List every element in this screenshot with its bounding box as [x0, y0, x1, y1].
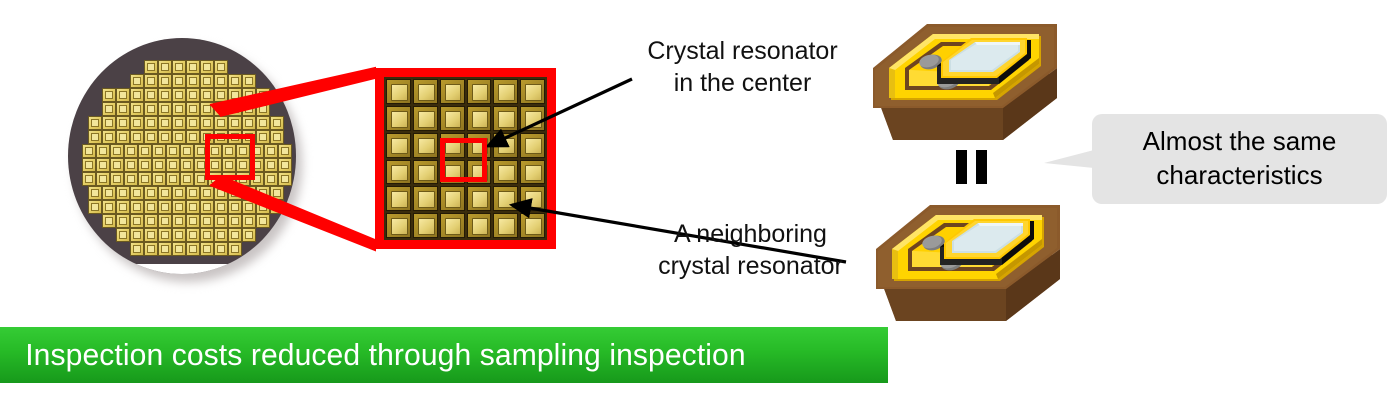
magnified-die: [440, 186, 465, 211]
wafer-die: [130, 88, 144, 102]
wafer-die: [102, 186, 116, 200]
wafer-die: [166, 144, 180, 158]
wafer-die: [242, 74, 256, 88]
wafer-die: [256, 214, 270, 228]
wafer-die: [172, 88, 186, 102]
wafer-die: [242, 228, 256, 242]
wafer-die: [144, 116, 158, 130]
wafer-die: [172, 186, 186, 200]
wafer-die: [152, 144, 166, 158]
wafer-die: [158, 130, 172, 144]
wafer-die: [172, 200, 186, 214]
wafer-sample-region-box: [205, 134, 255, 180]
wafer-die: [144, 228, 158, 242]
wafer-die-row: [130, 242, 242, 256]
wafer-die: [228, 228, 242, 242]
magnified-die: [386, 133, 411, 158]
wafer-die: [200, 74, 214, 88]
wafer-die: [242, 200, 256, 214]
result-banner-text: Inspection costs reduced through samplin…: [0, 337, 746, 373]
speech-bubble-text: Almost the same characteristics: [1133, 125, 1347, 193]
wafer-die: [124, 172, 138, 186]
wafer-die: [144, 214, 158, 228]
magnified-die: [493, 213, 518, 238]
wafer-die: [278, 158, 292, 172]
wafer-die: [158, 228, 172, 242]
wafer-die: [242, 102, 256, 116]
wafer-die-row: [102, 214, 270, 228]
wafer-die: [144, 102, 158, 116]
wafer-die: [186, 228, 200, 242]
magnified-region-panel: [375, 68, 556, 249]
label-neighboring-resonator: A neighboring crystal resonator: [643, 218, 858, 282]
wafer-die: [256, 88, 270, 102]
wafer-die: [158, 186, 172, 200]
wafer-die: [130, 228, 144, 242]
wafer-die: [144, 200, 158, 214]
wafer-die: [214, 200, 228, 214]
wafer-die: [186, 200, 200, 214]
wafer-die: [130, 242, 144, 256]
wafer-flat-edge: [102, 264, 252, 274]
wafer-die: [130, 130, 144, 144]
wafer-die-row: [88, 116, 284, 130]
wafer-die: [138, 144, 152, 158]
wafer-die: [228, 102, 242, 116]
wafer-die: [110, 172, 124, 186]
wafer-die-row: [130, 74, 256, 88]
magnified-die: [467, 79, 492, 104]
wafer-die: [152, 172, 166, 186]
equals-bar-left: [956, 150, 967, 184]
wafer-die: [130, 74, 144, 88]
wafer-die: [264, 144, 278, 158]
magnified-die: [467, 106, 492, 131]
wafer-die: [158, 88, 172, 102]
wafer-die: [242, 214, 256, 228]
wafer-die: [256, 186, 270, 200]
magnified-die: [493, 160, 518, 185]
wafer-die-row: [88, 200, 284, 214]
wafer-die: [172, 228, 186, 242]
magnified-die: [520, 106, 545, 131]
wafer-die-row: [82, 144, 292, 158]
magnified-die: [413, 160, 438, 185]
wafer-die: [116, 214, 130, 228]
wafer-die: [228, 200, 242, 214]
wafer-die: [158, 74, 172, 88]
magnified-die: [386, 213, 411, 238]
magnified-die: [413, 213, 438, 238]
wafer-die: [158, 200, 172, 214]
wafer-die: [214, 186, 228, 200]
magnified-die: [493, 106, 518, 131]
magnified-die: [493, 133, 518, 158]
wafer-die: [144, 242, 158, 256]
speech-bubble: Almost the same characteristics: [1092, 114, 1387, 204]
wafer-die: [214, 88, 228, 102]
wafer-die: [144, 88, 158, 102]
wafer-die: [102, 88, 116, 102]
label-center-resonator: Crystal resonator in the center: [630, 35, 855, 99]
wafer-die: [172, 214, 186, 228]
wafer-die: [270, 116, 284, 130]
magnified-die: [493, 79, 518, 104]
wafer-die: [144, 74, 158, 88]
wafer-die: [228, 186, 242, 200]
wafer-die: [116, 88, 130, 102]
wafer-die: [172, 60, 186, 74]
wafer-die: [256, 200, 270, 214]
wafer-die: [96, 158, 110, 172]
wafer-die: [130, 200, 144, 214]
wafer-die: [180, 158, 194, 172]
crystal-resonator-package-lower: [868, 193, 1068, 328]
wafer-die: [278, 144, 292, 158]
wafer-die: [228, 214, 242, 228]
wafer-die: [124, 158, 138, 172]
equals-sign: [956, 150, 992, 184]
wafer-die: [158, 116, 172, 130]
wafer-die: [88, 130, 102, 144]
wafer-die: [180, 172, 194, 186]
wafer-die: [130, 116, 144, 130]
wafer-die: [96, 172, 110, 186]
wafer-die: [214, 116, 228, 130]
wafer-die: [144, 186, 158, 200]
wafer-die: [186, 214, 200, 228]
wafer-die: [138, 158, 152, 172]
magnified-die: [520, 133, 545, 158]
magnified-die: [467, 213, 492, 238]
wafer-die: [96, 144, 110, 158]
wafer-die: [172, 116, 186, 130]
wafer-die: [214, 60, 228, 74]
wafer-die: [186, 74, 200, 88]
wafer-die: [116, 186, 130, 200]
magnified-die: [386, 106, 411, 131]
wafer-die: [186, 186, 200, 200]
wafer-die: [256, 116, 270, 130]
wafer-illustration: [68, 38, 308, 286]
wafer-die: [256, 130, 270, 144]
magnified-die: [493, 186, 518, 211]
wafer-die-row: [144, 60, 228, 74]
crystal-resonator-package-upper: [865, 12, 1065, 147]
wafer-die: [88, 186, 102, 200]
wafer-die: [186, 102, 200, 116]
wafer-die-row: [82, 158, 292, 172]
wafer-die: [200, 200, 214, 214]
wafer-die: [158, 60, 172, 74]
wafer-die: [138, 172, 152, 186]
wafer-die: [102, 116, 116, 130]
magnified-die: [413, 186, 438, 211]
wafer-die: [172, 102, 186, 116]
wafer-die: [102, 200, 116, 214]
magnified-die: [520, 79, 545, 104]
magnified-die: [467, 186, 492, 211]
wafer-die: [186, 242, 200, 256]
wafer-die: [200, 228, 214, 242]
wafer-die: [214, 242, 228, 256]
magnified-die: [520, 186, 545, 211]
magnified-die: [440, 79, 465, 104]
wafer-disc: [68, 38, 296, 274]
wafer-die: [200, 102, 214, 116]
wafer-die: [278, 172, 292, 186]
wafer-die: [228, 116, 242, 130]
wafer-die: [228, 88, 242, 102]
wafer-die: [264, 172, 278, 186]
wafer-die: [256, 102, 270, 116]
magnified-die: [386, 79, 411, 104]
wafer-die: [200, 116, 214, 130]
wafer-die: [172, 242, 186, 256]
wafer-die: [200, 186, 214, 200]
wafer-die: [158, 214, 172, 228]
wafer-die: [200, 242, 214, 256]
wafer-die: [110, 144, 124, 158]
wafer-die: [186, 116, 200, 130]
wafer-die: [214, 214, 228, 228]
center-resonator-highlight-box: [440, 138, 487, 182]
wafer-die: [102, 102, 116, 116]
wafer-die: [82, 172, 96, 186]
figure-canvas: Crystal resonator in the center A neighb…: [0, 0, 1399, 400]
wafer-die: [180, 144, 194, 158]
wafer-die: [116, 130, 130, 144]
wafer-die: [158, 102, 172, 116]
magnified-die: [520, 160, 545, 185]
wafer-die: [166, 158, 180, 172]
wafer-die: [270, 200, 284, 214]
wafer-die: [130, 186, 144, 200]
speech-bubble-tail: [1044, 146, 1094, 172]
wafer-die: [158, 242, 172, 256]
wafer-die: [102, 130, 116, 144]
wafer-die: [242, 186, 256, 200]
magnified-die: [440, 106, 465, 131]
wafer-die: [270, 130, 284, 144]
wafer-die: [116, 200, 130, 214]
magnified-die: [413, 133, 438, 158]
wafer-die: [186, 130, 200, 144]
wafer-die: [242, 88, 256, 102]
magnified-die: [413, 106, 438, 131]
wafer-die: [228, 242, 242, 256]
wafer-die: [214, 228, 228, 242]
wafer-die: [270, 186, 284, 200]
wafer-die: [214, 102, 228, 116]
wafer-die: [116, 102, 130, 116]
wafer-die: [116, 116, 130, 130]
wafer-die-row: [116, 228, 256, 242]
wafer-die-row: [102, 102, 270, 116]
result-banner: Inspection costs reduced through samplin…: [0, 327, 888, 383]
magnified-die: [386, 186, 411, 211]
wafer-die: [124, 144, 138, 158]
wafer-die: [110, 158, 124, 172]
wafer-die: [130, 102, 144, 116]
wafer-die: [82, 144, 96, 158]
wafer-die: [200, 214, 214, 228]
wafer-die: [200, 88, 214, 102]
wafer-die: [144, 130, 158, 144]
wafer-die: [144, 60, 158, 74]
wafer-die: [88, 116, 102, 130]
magnified-die: [413, 79, 438, 104]
equals-bar-right: [976, 150, 987, 184]
wafer-die: [214, 74, 228, 88]
wafer-die: [172, 74, 186, 88]
wafer-die: [264, 158, 278, 172]
wafer-die: [186, 88, 200, 102]
wafer-die-row: [82, 172, 292, 186]
wafer-die: [242, 116, 256, 130]
wafer-die: [172, 130, 186, 144]
wafer-die: [82, 158, 96, 172]
wafer-die: [88, 200, 102, 214]
wafer-die-row: [88, 186, 284, 200]
wafer-die: [116, 228, 130, 242]
magnified-die: [520, 213, 545, 238]
wafer-die-row: [102, 88, 270, 102]
wafer-die: [166, 172, 180, 186]
magnified-die: [386, 160, 411, 185]
wafer-die: [102, 214, 116, 228]
wafer-die: [130, 214, 144, 228]
wafer-die: [186, 60, 200, 74]
wafer-die: [228, 74, 242, 88]
wafer-die: [152, 158, 166, 172]
wafer-die: [200, 60, 214, 74]
magnified-die: [440, 213, 465, 238]
